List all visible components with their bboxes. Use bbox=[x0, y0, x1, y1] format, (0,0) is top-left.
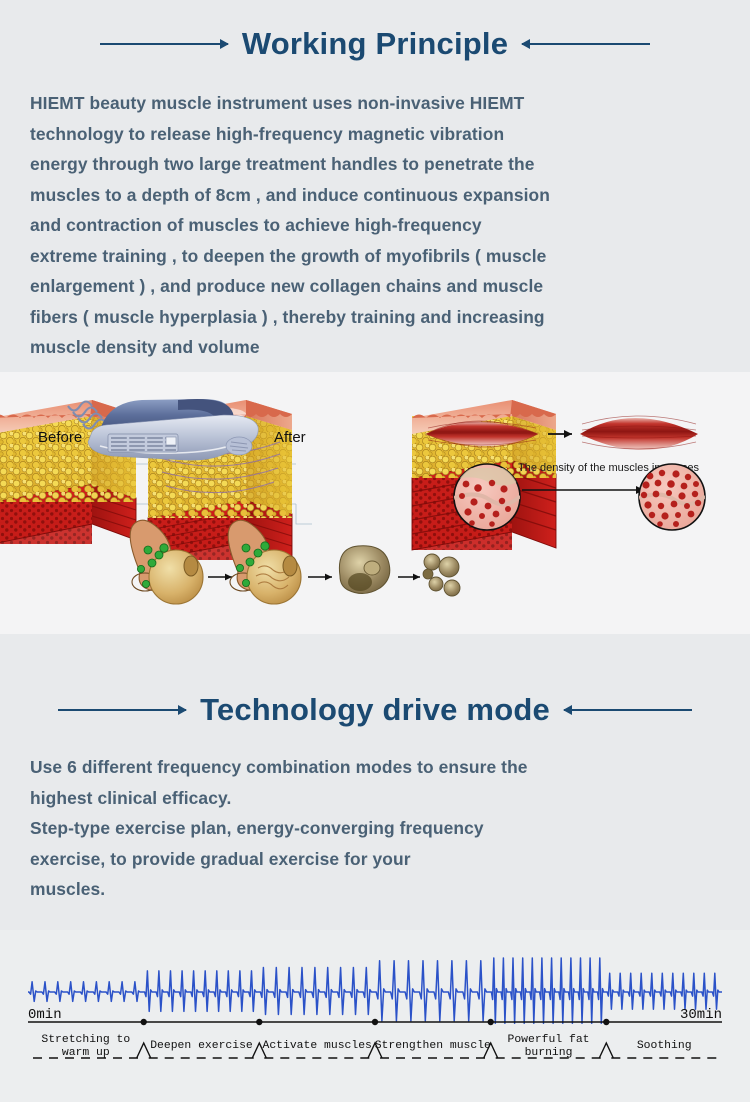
svg-text:Activate muscles: Activate muscles bbox=[263, 1040, 372, 1052]
fat-cell-stage-3 bbox=[339, 546, 389, 594]
section-title: Technology drive mode bbox=[200, 692, 550, 728]
timeline-tick bbox=[256, 1019, 262, 1025]
label-before: Before bbox=[38, 429, 82, 446]
arrow-right-icon bbox=[100, 43, 228, 45]
axis-label-start: 0min bbox=[28, 1007, 62, 1023]
body-line: muscles. bbox=[30, 874, 730, 905]
timeline-tick bbox=[488, 1019, 494, 1025]
label-after: After bbox=[274, 429, 306, 446]
technology-drive-mode-body: Use 6 different frequency combination mo… bbox=[30, 752, 730, 905]
body-line: energy through two large treatment handl… bbox=[30, 149, 730, 180]
axis-label-end: 30min bbox=[680, 1007, 722, 1023]
timeline-tick bbox=[372, 1019, 378, 1025]
body-line: Step-type exercise plan, energy-convergi… bbox=[30, 813, 730, 844]
body-line: fibers ( muscle hyperplasia ) , thereby … bbox=[30, 302, 730, 333]
svg-text:Soothing: Soothing bbox=[637, 1040, 692, 1052]
arrow-left-icon bbox=[522, 43, 650, 45]
body-line: enlargement ) , and produce new collagen… bbox=[30, 271, 730, 302]
section-heading-working-principle: Working Principle bbox=[0, 26, 750, 62]
svg-text:Deepen exercise: Deepen exercise bbox=[150, 1040, 253, 1052]
vent-grille bbox=[108, 434, 178, 452]
svg-text:Strengthen muscle: Strengthen muscle bbox=[375, 1040, 491, 1052]
timeline-tick bbox=[141, 1019, 147, 1025]
arrow-right-icon bbox=[58, 709, 186, 711]
muscle-cross-section-after bbox=[639, 464, 705, 530]
svg-text:Stretching to: Stretching to bbox=[41, 1034, 130, 1046]
body-line: extreme training , to deepen the growth … bbox=[30, 241, 730, 272]
body-line: and contraction of muscles to achieve hi… bbox=[30, 210, 730, 241]
svg-text:Powerful fat: Powerful fat bbox=[507, 1034, 589, 1046]
arrow-left-icon bbox=[564, 709, 692, 711]
svg-text:warm up: warm up bbox=[62, 1047, 110, 1059]
section-heading-technology-drive-mode: Technology drive mode bbox=[0, 692, 750, 728]
page-title: Working Principle bbox=[242, 26, 508, 62]
body-line: muscles to a depth of 8cm , and induce c… bbox=[30, 180, 730, 211]
svg-text:burning: burning bbox=[525, 1047, 573, 1059]
product-info-page: Working Principle HIEMT beauty muscle in… bbox=[0, 0, 750, 1102]
body-line: Use 6 different frequency combination mo… bbox=[30, 752, 730, 783]
body-line: muscle density and volume bbox=[30, 332, 730, 363]
working-principle-body: HIEMT beauty muscle instrument uses non-… bbox=[30, 88, 730, 363]
body-line: HIEMT beauty muscle instrument uses non-… bbox=[30, 88, 730, 119]
body-line: highest clinical efficacy. bbox=[30, 783, 730, 814]
body-line: technology to release high-frequency mag… bbox=[30, 119, 730, 150]
timeline-tick bbox=[603, 1019, 609, 1025]
working-principle-illustration: Before bbox=[0, 372, 750, 634]
exercise-plan-waveform-chart: 0min 30min Stretching towarm upDeepen ex… bbox=[0, 930, 750, 1102]
body-line: exercise, to provide gradual exercise fo… bbox=[30, 844, 730, 875]
